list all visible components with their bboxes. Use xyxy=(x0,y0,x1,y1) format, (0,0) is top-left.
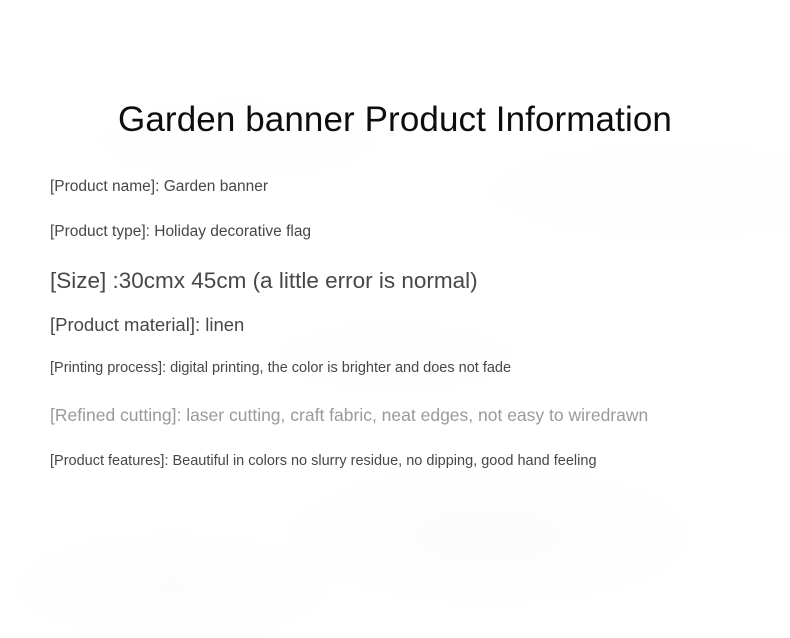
page-title: Garden banner Product Information xyxy=(0,97,790,143)
spec-row-refined-cutting: [Refined cutting]: laser cutting, craft … xyxy=(50,403,750,427)
spec-row-product-features: [Product features]: Beautiful in colors … xyxy=(50,451,750,471)
spec-row-product-type: [Product type]: Holiday decorative flag xyxy=(50,221,750,243)
spec-row-printing-process: [Printing process]: digital printing, th… xyxy=(50,358,750,378)
spec-row-product-material: [Product material]: linen xyxy=(50,312,750,337)
spec-row-product-name: [Product name]: Garden banner xyxy=(50,176,750,198)
product-information-page: Garden banner Product Information [Produ… xyxy=(0,0,790,638)
product-spec-list: [Product name]: Garden banner [Product t… xyxy=(50,176,750,471)
spec-row-size: [Size] :30cmx 45cm (a little error is no… xyxy=(50,266,750,296)
